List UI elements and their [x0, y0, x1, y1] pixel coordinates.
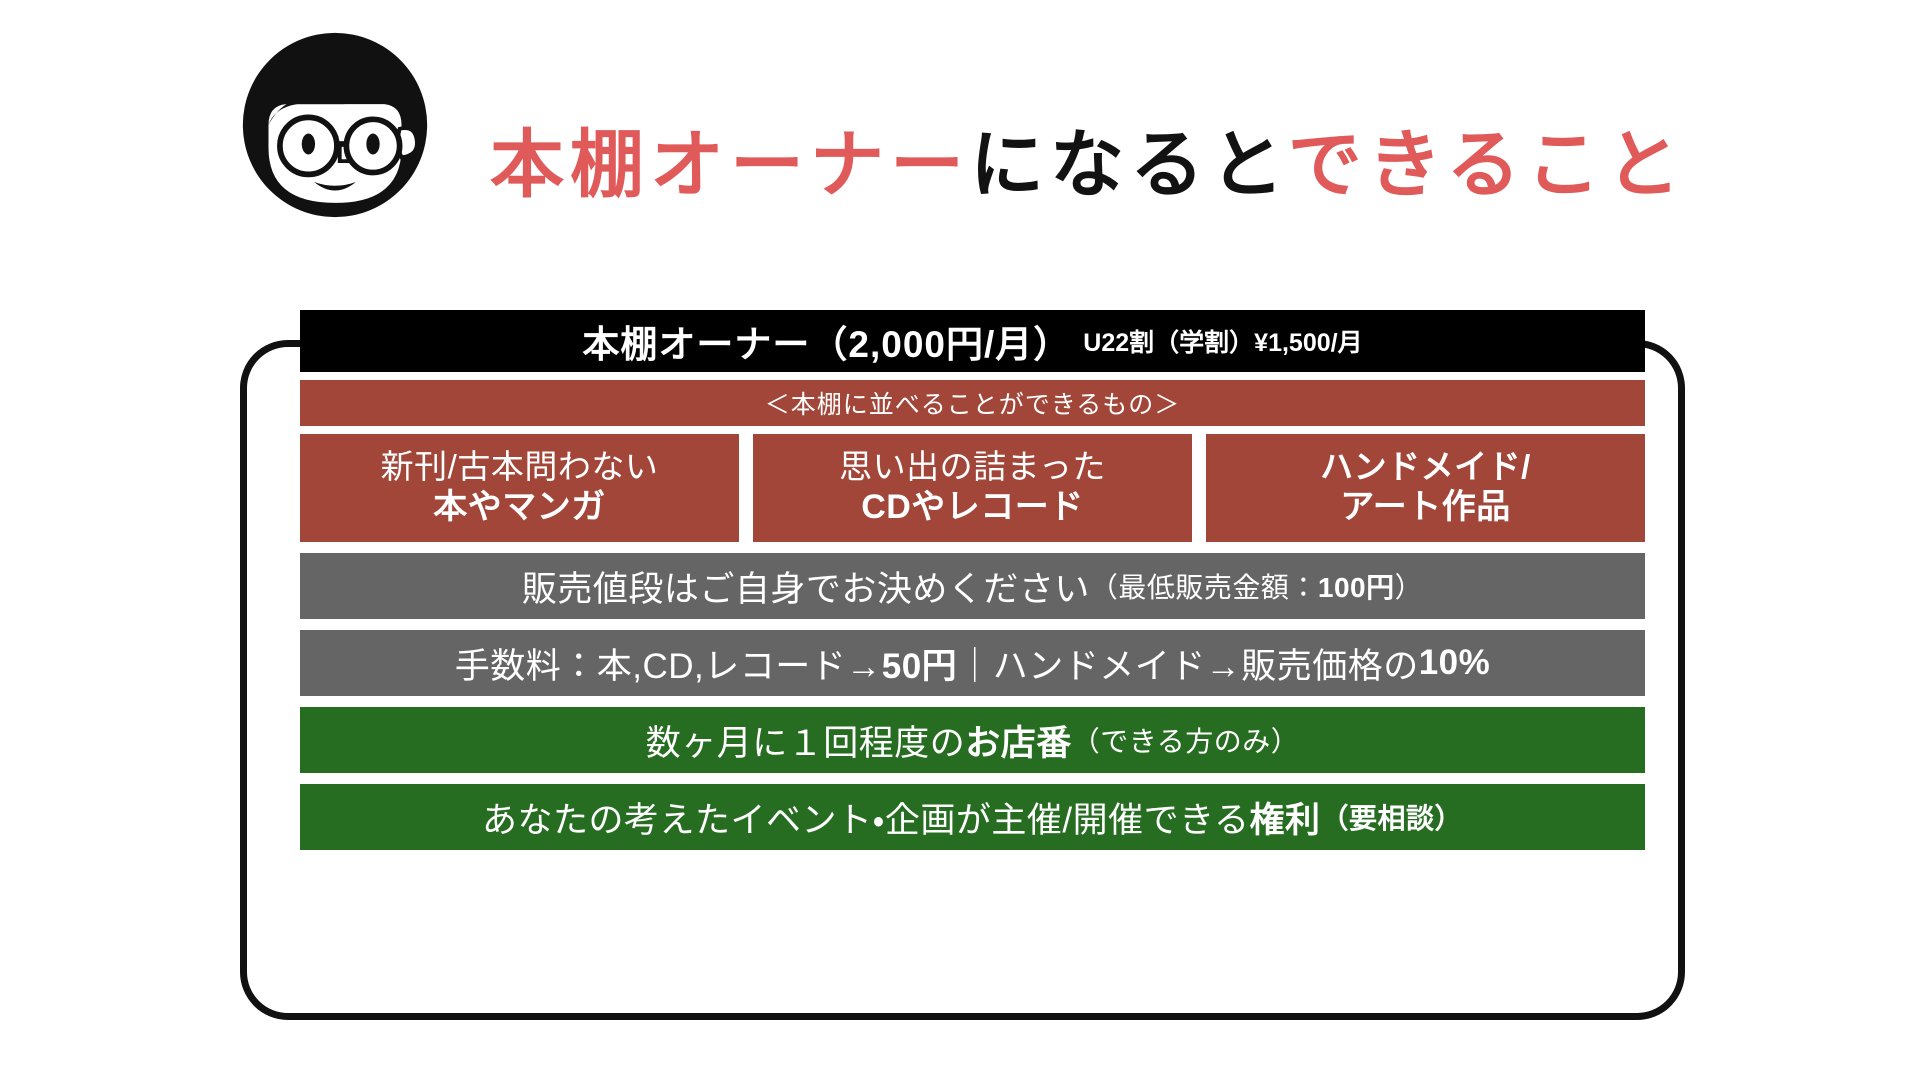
pricing-main-text: 販売値段はご自身でお決めください: [522, 561, 1090, 612]
title-segment-3: できること: [1288, 123, 1687, 206]
shelf-item-group: 新刊/古本問わない 本やマンガ 思い出の詰まった CDやレコード ハンドメイド/…: [300, 434, 1645, 542]
shelf-item-line1: 思い出の詰まった: [839, 448, 1106, 487]
fee-prefix-text: 手数料：本,CD,レコード→: [455, 638, 882, 689]
pricing-note-open: （最低販売金額：: [1090, 566, 1318, 606]
pricing-note-close: ）: [1395, 566, 1424, 606]
shop-duty-highlight: お店番: [965, 715, 1072, 766]
shelf-item-line2: 本やマンガ: [433, 487, 606, 527]
title-segment-2: になると: [970, 123, 1288, 206]
fee-books-amount: 50円: [882, 638, 957, 689]
event-right-highlight: 権利: [1249, 792, 1320, 843]
brand-logo: [240, 30, 430, 220]
fee-handmade-percent: 10%: [1419, 643, 1491, 683]
shelf-section-label: ＜本棚に並べることができるもの＞: [765, 385, 1181, 421]
event-right-note: （要相談）: [1320, 797, 1463, 837]
face-with-glasses-icon: [240, 30, 430, 220]
plan-header-bar: 本棚オーナー（2,000円/月） U22割（学割）¥1,500/月: [300, 310, 1645, 372]
fee-divider-text: ｜ハンドメイド→販売価格の: [957, 638, 1419, 689]
plan-details-stack: 本棚オーナー（2,000円/月） U22割（学割）¥1,500/月 ＜本棚に並べ…: [300, 310, 1645, 850]
shelf-section-band: ＜本棚に並べることができるもの＞: [300, 380, 1645, 426]
shelf-item-line1: ハンドメイド/: [1320, 448, 1531, 487]
shelf-item-line2: アート作品: [1340, 487, 1510, 527]
pricing-row: 販売値段はご自身でお決めください（最低販売金額：100円）: [300, 553, 1645, 619]
shop-duty-note: （できる方のみ）: [1072, 720, 1299, 760]
title-segment-1: 本棚オーナー: [490, 123, 970, 206]
shelf-item-card: 新刊/古本問わない 本やマンガ: [300, 434, 739, 542]
event-right-prefix: あなたの考えたイベント・企画が主催/開催できる: [482, 792, 1249, 843]
plan-title-main: 本棚オーナー（2,000円/月）: [582, 314, 1071, 368]
event-right-row: あなたの考えたイベント・企画が主催/開催できる権利（要相談）: [300, 784, 1645, 850]
page-header: 本棚オーナーになるとできること: [0, 0, 1920, 250]
shop-duty-prefix: 数ヶ月に１回程度の: [646, 715, 966, 766]
shelf-item-line2: CDやレコード: [861, 487, 1084, 527]
pricing-min-amount: 100円: [1318, 566, 1395, 606]
plan-title-sub: U22割（学割）¥1,500/月: [1083, 323, 1362, 359]
shelf-item-card: 思い出の詰まった CDやレコード: [753, 434, 1192, 542]
shop-duty-row: 数ヶ月に１回程度のお店番（できる方のみ）: [300, 707, 1645, 773]
page-title: 本棚オーナーになるとできること: [490, 128, 1686, 202]
shelf-item-line1: 新刊/古本問わない: [381, 448, 659, 487]
shelf-item-card: ハンドメイド/ アート作品: [1206, 434, 1645, 542]
fee-row: 手数料：本,CD,レコード→50円｜ハンドメイド→販売価格の10%: [300, 630, 1645, 696]
